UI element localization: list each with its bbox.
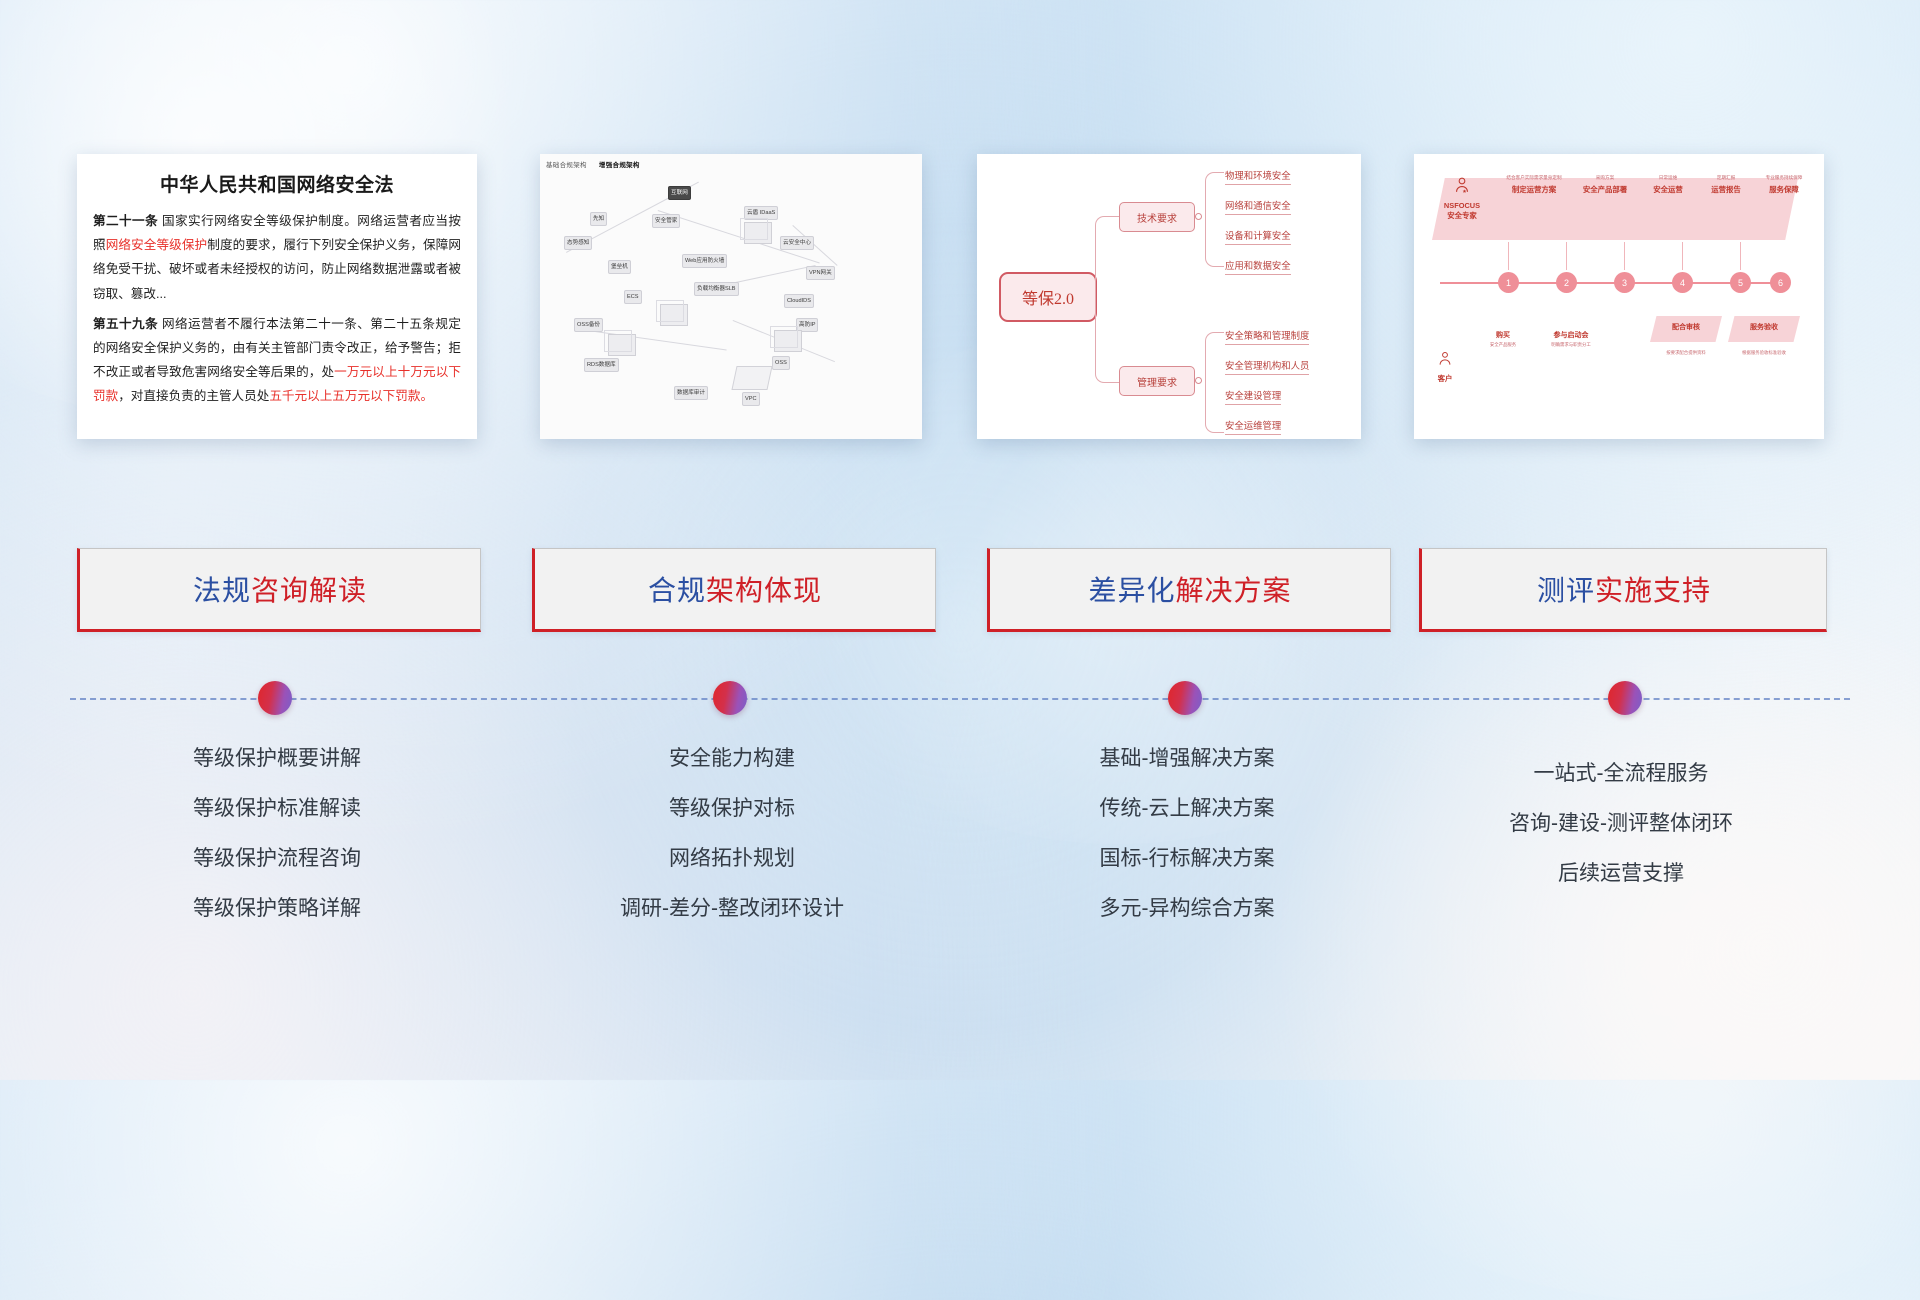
list-item: 基础-增强解决方案 — [987, 748, 1387, 769]
arch-cube-icon — [774, 330, 802, 352]
nsfocus-footer-0-title: 购买 — [1478, 330, 1528, 340]
list-item: 后续运营支撑 — [1419, 863, 1823, 884]
column-list-3: 基础-增强解决方案 传统-云上解决方案 国标-行标解决方案 多元-异构综合方案 — [987, 748, 1387, 948]
list-item: 等级保护对标 — [532, 798, 932, 819]
timeline-dot-1[interactable] — [258, 681, 292, 715]
law-article-59-highlight-2: 五千元以上五万元以下罚款。 — [269, 389, 433, 403]
nsfocus-footer-2-sub: 按要求配合提供资料 — [1650, 350, 1722, 356]
column-list-2: 安全能力构建 等级保护对标 网络拓扑规划 调研-差分-整改闭环设计 — [532, 748, 932, 948]
timeline-dot-4[interactable] — [1608, 681, 1642, 715]
screenshot-card-row: 中华人民共和国网络安全法 第二十一条 国家实行网络安全等级保护制度。网络运营者应… — [0, 0, 1920, 300]
arch-node-situational-awareness: 态势感知 — [564, 236, 592, 250]
law-article-21-highlight: 网络安全等级保护 — [106, 238, 208, 252]
nsfocus-tick — [1682, 242, 1683, 270]
nsfocus-brand: NSFOCUS — [1434, 201, 1490, 210]
nsfocus-footer-0-sub: 安全产品服务 — [1478, 342, 1528, 348]
header-box-evaluation-support[interactable]: 测评实施支持 — [1419, 548, 1827, 632]
expert-person-icon — [1452, 176, 1472, 196]
arch-node-oss: OSS — [772, 356, 790, 370]
nsfocus-band-item-2-small: 日常运维 — [1659, 175, 1677, 181]
nsfocus-diagram: NSFOCUS 安全专家 结合客户实际需求量身定制 制定运营方案 采购方案 安全… — [1414, 154, 1824, 439]
law-text-body: 中华人民共和国网络安全法 第二十一条 国家实行网络安全等级保护制度。网络运营者应… — [77, 154, 477, 439]
nsfocus-band-item-1: 采购方案 安全产品部署 — [1574, 154, 1636, 216]
nsfocus-step-4: 4 — [1672, 272, 1693, 293]
header-box-4-blue-text: 测评 — [1537, 569, 1595, 609]
mindmap-edge — [1205, 172, 1224, 217]
nsfocus-footer-3-sub-wrap: 根据服务验收标准验收 — [1728, 348, 1800, 356]
arch-node-cloud-ids: CloudIDS — [784, 294, 814, 308]
nsfocus-footer-1-title: 参与启动会 — [1532, 330, 1610, 340]
nsfocus-step-1: 1 — [1498, 272, 1519, 293]
mindmap-edge — [1095, 296, 1120, 383]
nsfocus-footer-2-title: 配合审核 — [1652, 322, 1720, 332]
nsfocus-band-item-0: 结合客户实际需求量身定制 制定运营方案 — [1498, 154, 1570, 216]
header-box-regulation-consulting[interactable]: 法规咨询解读 — [77, 548, 481, 632]
architecture-tab-1[interactable]: 增强合规架构 — [599, 162, 640, 169]
nsfocus-footer-3-title: 服务验收 — [1730, 322, 1798, 332]
arch-node-slb: 负载均衡器SLB — [694, 282, 739, 296]
law-title: 中华人民共和国网络安全法 — [93, 170, 461, 197]
arch-node-waf: Web应用防火墙 — [682, 254, 727, 268]
header-box-3-red-text: 解决方案 — [1176, 569, 1292, 609]
arch-node-bastion-host: 堡垒机 — [608, 260, 631, 274]
list-item: 一站式-全流程服务 — [1419, 763, 1823, 784]
mindmap-leaf-mgmt-3: 安全运维管理 — [1225, 418, 1281, 435]
header-box-1-blue-text: 法规 — [193, 569, 251, 609]
header-box-differentiated-solution[interactable]: 差异化解决方案 — [987, 548, 1391, 632]
nsfocus-band-item-0-title: 制定运营方案 — [1512, 184, 1556, 195]
arch-hex-icon — [731, 366, 772, 390]
mindmap-leaf-tech-1: 网络和通信安全 — [1225, 198, 1291, 215]
arch-node-vpn-gateway: VPN网关 — [806, 266, 835, 280]
mindmap-leaf-mgmt-2: 安全建设管理 — [1225, 388, 1281, 405]
nsfocus-footer-3-sub: 根据服务验收标准验收 — [1728, 350, 1800, 356]
nsfocus-band-item-0-small: 结合客户实际需求量身定制 — [1506, 175, 1561, 181]
nsfocus-tick — [1508, 242, 1509, 270]
nsfocus-tick — [1740, 242, 1741, 270]
mindmap-branch-technical: 技术要求 — [1119, 202, 1195, 232]
nsfocus-expert-block: NSFOCUS 安全专家 — [1434, 176, 1490, 221]
arch-node-xianzhi: 先知 — [590, 212, 607, 226]
law-article-21: 第二十一条 国家实行网络安全等级保护制度。网络运营者应当按照网络安全等级保护制度… — [93, 209, 461, 306]
arch-node-db-audit: 数据库审计 — [674, 386, 708, 400]
list-item: 国标-行标解决方案 — [987, 848, 1387, 869]
mindmap-leaf-mgmt-1: 安全管理机构和人员 — [1225, 358, 1309, 375]
nsfocus-band-item-1-small: 采购方案 — [1596, 175, 1614, 181]
nsfocus-footer-0: 购买 安全产品服务 — [1478, 330, 1528, 348]
arch-cube-icon — [744, 222, 772, 244]
nsfocus-band-item-2-title: 安全运营 — [1653, 184, 1683, 195]
timeline-dot-2[interactable] — [713, 681, 747, 715]
arch-node-security-butler: 安全管家 — [652, 214, 680, 228]
nsfocus-tick — [1566, 242, 1567, 270]
nsfocus-band-item-1-title: 安全产品部署 — [1583, 184, 1627, 195]
user-person-icon — [1436, 350, 1454, 368]
list-item: 等级保护概要讲解 — [77, 748, 477, 769]
nsfocus-footer-1: 参与启动会 明确需求与职责分工 — [1532, 330, 1610, 348]
list-item: 网络拓扑规划 — [532, 848, 932, 869]
list-item: 等级保护策略详解 — [77, 898, 477, 919]
law-article-59-part2: ，对直接负责的主管人员处 — [118, 389, 269, 403]
law-article-21-label: 第二十一条 — [93, 214, 158, 228]
nsfocus-tick — [1624, 242, 1625, 270]
mindmap-root-node: 等保2.0 — [999, 272, 1097, 322]
arch-cube-icon — [608, 334, 636, 356]
nsfocus-footer-1-sub: 明确需求与职责分工 — [1532, 342, 1610, 348]
law-article-59: 第五十九条 网络运营者不履行本法第二十一条、第二十五条规定的网络安全保护义务的，… — [93, 312, 461, 409]
nsfocus-band-item-4-title: 服务保障 — [1769, 184, 1799, 195]
header-box-3-blue-text: 差异化 — [1088, 569, 1175, 609]
nsfocus-band-item-3-title: 运营报告 — [1711, 184, 1741, 195]
header-box-4-red-text: 实施支持 — [1595, 569, 1711, 609]
nsfocus-step-2: 2 — [1556, 272, 1577, 293]
mindmap-leaf-tech-2: 设备和计算安全 — [1225, 228, 1291, 245]
nsfocus-expert-role: 安全专家 — [1434, 210, 1490, 221]
header-box-compliance-architecture[interactable]: 合规架构体现 — [532, 548, 936, 632]
mindmap-leaf-tech-0: 物理和环境安全 — [1225, 168, 1291, 185]
arch-node-ecs: ECS — [624, 290, 642, 304]
nsfocus-band-item-4: 专业服务持续保障 服务保障 — [1756, 154, 1812, 216]
nsfocus-band-item-3-small: 定期汇报 — [1717, 175, 1735, 181]
architecture-canvas: 互联网 先知 态势感知 安全管家 堡垒机 云盾 IDaaS 云安全中心 VPN网… — [548, 170, 914, 431]
arch-node-rds: RDS数据库 — [584, 358, 619, 372]
nsfocus-band-item-3: 定期汇报 运营报告 — [1698, 154, 1754, 216]
mindmap-edge — [1205, 378, 1224, 433]
nsfocus-band-item-2: 日常运维 安全运营 — [1640, 154, 1696, 216]
header-box-2-red-text: 架构体现 — [706, 569, 822, 609]
card-cybersecurity-law[interactable]: 中华人民共和国网络安全法 第二十一条 国家实行网络安全等级保护制度。网络运营者应… — [77, 154, 477, 439]
mindmap-branch-management: 管理要求 — [1119, 366, 1195, 396]
law-article-59-label: 第五十九条 — [93, 317, 158, 331]
arch-node-internet: 互联网 — [668, 186, 691, 200]
nsfocus-footer-2-sub-wrap: 按要求配合提供资料 — [1650, 348, 1722, 356]
mindmap-edge — [1095, 216, 1120, 297]
list-item: 调研-差分-整改闭环设计 — [532, 898, 932, 919]
nsfocus-footer-2: 配合审核 — [1652, 322, 1720, 332]
nsfocus-step-3: 3 — [1614, 272, 1635, 293]
timeline-dot-3[interactable] — [1168, 681, 1202, 715]
background-glow-bottom-right — [1220, 600, 1920, 1300]
mindmap-diagram: 等保2.0 技术要求 管理要求 物理和环境安全 网络和通信安全 设备和计算安全 … — [977, 154, 1361, 439]
architecture-tab-0[interactable]: 基础合规架构 — [546, 162, 587, 169]
nsfocus-user-label: 客户 — [1436, 373, 1454, 384]
timeline-dashed-line — [70, 698, 1850, 700]
mindmap-leaf-tech-3: 应用和数据安全 — [1225, 258, 1291, 275]
architecture-diagram: 基础合规架构 增强合规架构 互联网 先知 态势感知 安全管家 堡垒机 云盾 ID… — [540, 154, 922, 439]
architecture-tabs[interactable]: 基础合规架构 增强合规架构 — [546, 159, 650, 169]
list-item: 安全能力构建 — [532, 748, 932, 769]
column-list-1: 等级保护概要讲解 等级保护标准解读 等级保护流程咨询 等级保护策略详解 — [77, 748, 477, 948]
arch-node-oss-backup: OSS备份 — [574, 318, 603, 332]
nsfocus-user-block: 客户 — [1436, 350, 1454, 384]
mindmap-edge — [1205, 332, 1224, 379]
header-box-2-blue-text: 合规 — [648, 569, 706, 609]
nsfocus-step-6: 6 — [1770, 272, 1791, 293]
nsfocus-footer-3: 服务验收 — [1730, 322, 1798, 332]
column-list-4: 一站式-全流程服务 咨询-建设-测评整体闭环 后续运营支撑 — [1419, 763, 1823, 913]
header-box-1-red-text: 咨询解读 — [251, 569, 367, 609]
arch-cube-icon — [660, 304, 688, 326]
nsfocus-band-item-4-small: 专业服务持续保障 — [1766, 175, 1803, 181]
list-item: 传统-云上解决方案 — [987, 798, 1387, 819]
list-item: 等级保护标准解读 — [77, 798, 477, 819]
arch-node-vpc: VPC — [742, 392, 760, 406]
mindmap-leaf-mgmt-0: 安全策略和管理制度 — [1225, 328, 1309, 345]
mindmap-connector-dot — [1195, 377, 1202, 384]
card-mindmap-dengbao[interactable]: 等保2.0 技术要求 管理要求 物理和环境安全 网络和通信安全 设备和计算安全 … — [977, 154, 1361, 439]
card-nsfocus-service-flow[interactable]: NSFOCUS 安全专家 结合客户实际需求量身定制 制定运营方案 采购方案 安全… — [1414, 154, 1824, 439]
card-compliance-architecture[interactable]: 基础合规架构 增强合规架构 互联网 先知 态势感知 安全管家 堡垒机 云盾 ID… — [540, 154, 922, 439]
nsfocus-step-5: 5 — [1730, 272, 1751, 293]
mindmap-edge — [1205, 216, 1224, 267]
arch-node-cloud-security-center: 云安全中心 — [780, 236, 814, 250]
list-item: 多元-异构综合方案 — [987, 898, 1387, 919]
list-item: 咨询-建设-测评整体闭环 — [1419, 813, 1823, 834]
mindmap-connector-dot — [1195, 213, 1202, 220]
list-item: 等级保护流程咨询 — [77, 848, 477, 869]
